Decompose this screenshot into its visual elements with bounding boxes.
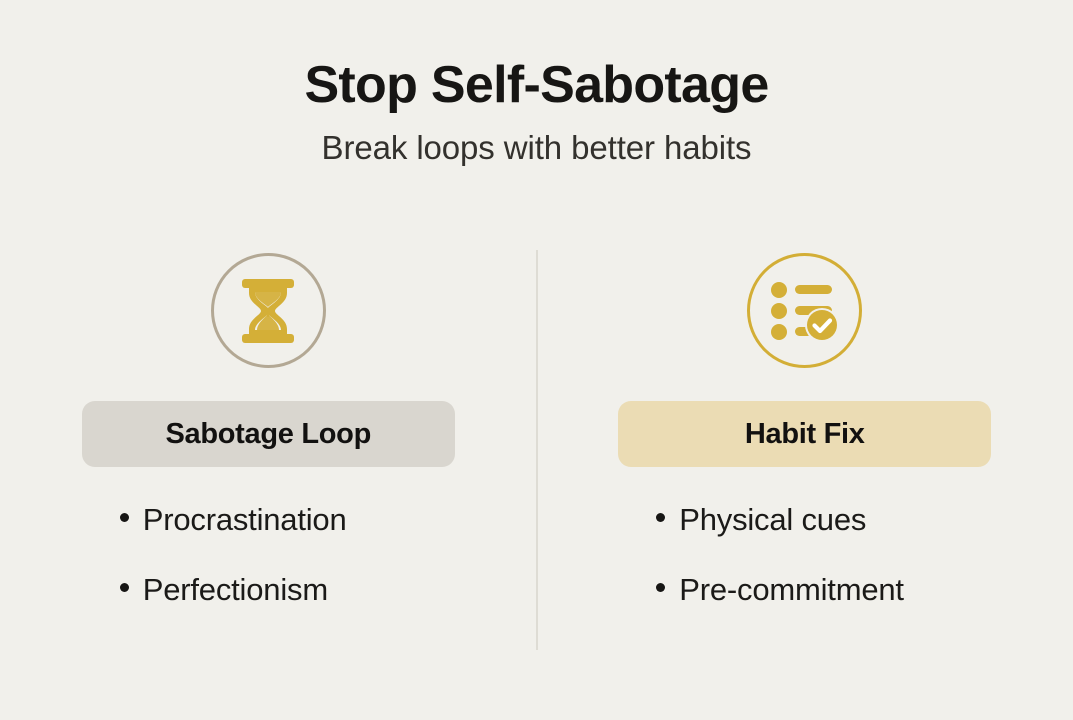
bullet-dot-icon bbox=[656, 513, 665, 522]
bullet-list-sabotage-loop: Procrastination Perfectionism bbox=[82, 504, 455, 644]
list-item: Procrastination bbox=[82, 504, 455, 574]
checklist-check-icon bbox=[770, 280, 840, 342]
column-habit-fix: Habit Fix Physical cues Pre-commitment bbox=[537, 253, 1073, 644]
infographic-canvas: Stop Self-Sabotage Break loops with bett… bbox=[0, 0, 1073, 720]
label-pill-habit-fix: Habit Fix bbox=[618, 401, 991, 467]
page-subtitle: Break loops with better habits bbox=[0, 128, 1073, 168]
label-pill-sabotage-loop: Sabotage Loop bbox=[82, 401, 455, 467]
comparison-columns: Sabotage Loop Procrastination Perfection… bbox=[0, 253, 1073, 644]
list-item-label: Pre-commitment bbox=[679, 574, 904, 605]
bullet-list-habit-fix: Physical cues Pre-commitment bbox=[618, 504, 991, 644]
hourglass-icon-circle bbox=[211, 253, 326, 368]
list-item: Perfectionism bbox=[82, 574, 455, 644]
list-item: Physical cues bbox=[618, 504, 991, 574]
bullet-dot-icon bbox=[120, 583, 129, 592]
hourglass-icon bbox=[237, 277, 299, 345]
list-item-label: Procrastination bbox=[143, 504, 347, 535]
list-item: Pre-commitment bbox=[618, 574, 991, 644]
page-title: Stop Self-Sabotage bbox=[0, 56, 1073, 114]
checklist-icon-circle bbox=[747, 253, 862, 368]
pill-label: Habit Fix bbox=[745, 418, 865, 451]
header: Stop Self-Sabotage Break loops with bett… bbox=[0, 56, 1073, 168]
list-item-label: Perfectionism bbox=[143, 574, 328, 605]
bullet-dot-icon bbox=[656, 583, 665, 592]
list-item-label: Physical cues bbox=[679, 504, 866, 535]
column-sabotage-loop: Sabotage Loop Procrastination Perfection… bbox=[0, 253, 537, 644]
pill-label: Sabotage Loop bbox=[165, 418, 371, 451]
bullet-dot-icon bbox=[120, 513, 129, 522]
